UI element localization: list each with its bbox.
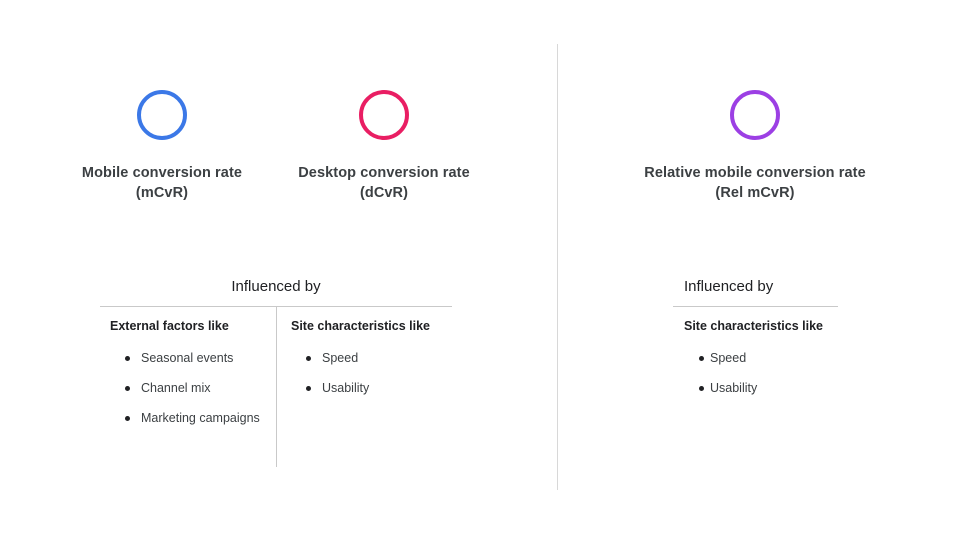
bullet-list-external-factors: Seasonal events Channel mix Marketing ca…	[110, 335, 268, 426]
influence-column-site-characteristics: Site characteristics like Speed Usabilit…	[276, 307, 452, 467]
metric-card-relative-mobile-conversion-rate: Relative mobile conversion rate (Rel mCv…	[635, 90, 875, 203]
slide-canvas: Mobile conversion rate (mCvR) Desktop co…	[0, 0, 960, 540]
list-item: Marketing campaigns	[110, 411, 268, 426]
bullet-list-site-characteristics: Speed Usability	[291, 335, 452, 396]
influenced-by-title: Influenced by	[673, 277, 838, 306]
metric-card-mobile-conversion-rate: Mobile conversion rate (mCvR)	[62, 90, 262, 203]
column-heading-site-characteristics: Site characteristics like	[291, 307, 452, 335]
list-item: Usability	[291, 381, 452, 396]
panel-divider	[557, 44, 558, 490]
bullet-list-site-characteristics: Speed Usability	[684, 335, 838, 396]
list-item: Seasonal events	[110, 351, 268, 366]
influence-column-external-factors: External factors like Seasonal events Ch…	[100, 307, 276, 467]
circle-outline-icon	[730, 90, 780, 140]
influence-columns: Site characteristics like Speed Usabilit…	[673, 307, 838, 411]
metric-label-relative-mobile-conversion-rate: Relative mobile conversion rate (Rel mCv…	[635, 163, 875, 203]
column-heading-external-factors: External factors like	[110, 307, 268, 335]
circle-outline-icon	[137, 90, 187, 140]
list-item: Speed	[684, 351, 838, 366]
influence-column-site-characteristics: Site characteristics like Speed Usabilit…	[673, 307, 838, 411]
list-item: Speed	[291, 351, 452, 366]
metric-label-mobile-conversion-rate: Mobile conversion rate (mCvR)	[62, 163, 262, 203]
influence-columns: External factors like Seasonal events Ch…	[100, 307, 452, 467]
circle-outline-icon	[359, 90, 409, 140]
influenced-by-title: Influenced by	[100, 277, 452, 306]
column-heading-site-characteristics: Site characteristics like	[684, 307, 838, 335]
influenced-by-block-right: Influenced by Site characteristics like …	[673, 277, 838, 411]
list-item: Usability	[684, 381, 838, 396]
metric-card-desktop-conversion-rate: Desktop conversion rate (dCvR)	[284, 90, 484, 203]
influenced-by-block-left: Influenced by External factors like Seas…	[100, 277, 452, 467]
metric-label-desktop-conversion-rate: Desktop conversion rate (dCvR)	[284, 163, 484, 203]
list-item: Channel mix	[110, 381, 268, 396]
